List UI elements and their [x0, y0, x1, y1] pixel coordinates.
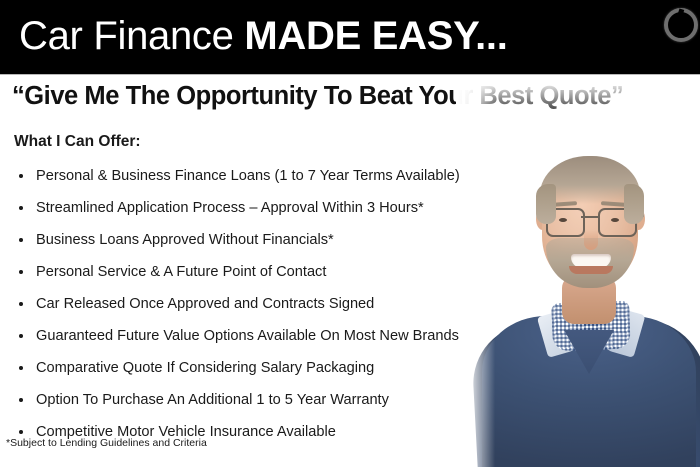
list-item: Personal & Business Finance Loans (1 to …: [14, 160, 514, 192]
offer-list: Personal & Business Finance Loans (1 to …: [14, 160, 514, 448]
list-item: Business Loans Approved Without Financia…: [14, 224, 514, 256]
bullet-icon: [19, 174, 23, 178]
list-item-label: Streamlined Application Process – Approv…: [36, 200, 424, 216]
list-item: Car Released Once Approved and Contracts…: [14, 288, 514, 320]
list-item-label: Personal & Business Finance Loans (1 to …: [36, 168, 460, 184]
list-item-label: Competitive Motor Vehicle Insurance Avai…: [36, 424, 336, 440]
list-item: Competitive Motor Vehicle Insurance Avai…: [14, 416, 514, 448]
advertisement-flyer: Car Finance MADE EASY... “Give Me The Op…: [0, 0, 700, 467]
bullet-icon: [19, 206, 23, 210]
list-item: Option To Purchase An Additional 1 to 5 …: [14, 384, 514, 416]
page-title-bold: MADE EASY...: [244, 14, 507, 58]
list-item: Comparative Quote If Considering Salary …: [14, 352, 514, 384]
portrait-glasses-bridge: [581, 216, 598, 218]
bullet-icon: [19, 270, 23, 274]
bullet-icon: [19, 334, 23, 338]
page-title-light: Car Finance: [19, 14, 244, 58]
list-item-label: Guaranteed Future Value Options Availabl…: [36, 328, 459, 344]
portrait-nose: [584, 230, 598, 250]
header-banner: Car Finance MADE EASY...: [0, 0, 700, 74]
bullet-icon: [19, 302, 23, 306]
offer-subtitle: What I Can Offer:: [14, 133, 141, 151]
portrait-hair-left: [536, 184, 556, 224]
list-item-label: Comparative Quote If Considering Salary …: [36, 360, 374, 376]
bullet-icon: [19, 430, 23, 434]
list-item: Guaranteed Future Value Options Availabl…: [14, 320, 514, 352]
portrait-lower-lip: [569, 266, 613, 274]
bullet-icon: [19, 366, 23, 370]
header-divider: [0, 74, 700, 75]
list-item-label: Car Released Once Approved and Contracts…: [36, 296, 374, 312]
bullet-icon: [19, 398, 23, 402]
bullet-icon: [19, 238, 23, 242]
portrait-hair-right: [624, 184, 644, 224]
list-item-label: Business Loans Approved Without Financia…: [36, 232, 334, 248]
list-item: Personal Service & A Future Point of Con…: [14, 256, 514, 288]
list-item-label: Option To Purchase An Additional 1 to 5 …: [36, 392, 389, 408]
page-title: Car Finance MADE EASY...: [19, 12, 508, 60]
list-item-label: Personal Service & A Future Point of Con…: [36, 264, 326, 280]
list-item: Streamlined Application Process – Approv…: [14, 192, 514, 224]
circular-watermark-icon: [664, 8, 698, 42]
